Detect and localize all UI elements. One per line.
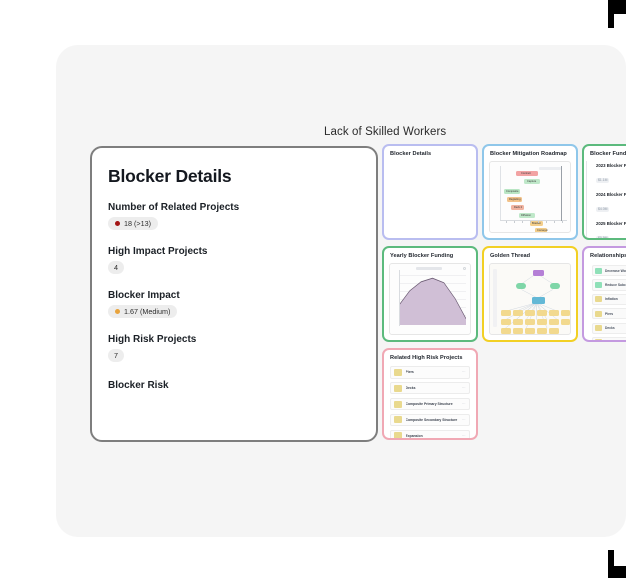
field-label: High Risk Projects (108, 334, 360, 345)
diagram-leaf (561, 310, 570, 316)
area-series (399, 271, 466, 325)
thumbnail-blocker-details[interactable]: Blocker Details (382, 144, 478, 240)
relationships-list: Decrease Worker Turnover Reduce Subcontr… (589, 263, 626, 335)
color-swatch (595, 339, 602, 342)
funding-label: 2024 Blocker Funding (596, 192, 626, 197)
thumbnail-title: Relationships (584, 248, 626, 262)
thumbnail-title: Blocker Mitigation Roadmap (484, 146, 576, 160)
color-swatch (394, 401, 402, 408)
project-name: Composite Primary Structure (406, 402, 459, 406)
color-swatch (394, 416, 402, 423)
list-item: Decrease Worker Turnover (592, 265, 626, 276)
badge-value: 7 (114, 351, 118, 360)
color-swatch (595, 282, 602, 288)
thumbnail-golden-thread[interactable]: Golden Thread (482, 246, 578, 342)
funding-label: 2023 Blocker Funding (596, 163, 626, 168)
relationship-label: Decrease Worker Turnover (605, 269, 626, 273)
field-label: Number of Related Projects (108, 202, 360, 213)
field-high-risk-projects: High Risk Projects 7 (108, 334, 360, 363)
thumbnail-title: Yearly Blocker Funding (384, 248, 476, 262)
list-item: Decks (592, 323, 626, 334)
thumbnail-relationships[interactable]: Relationships Decrease Worker Turnover R… (582, 246, 626, 342)
field-blocker-risk: Blocker Risk (108, 380, 360, 391)
diagram-node-branch-b (550, 283, 560, 289)
relationship-label: Decks (605, 326, 615, 330)
thumbnail-blocker-mitigation-roadmap[interactable]: Blocker Mitigation Roadmap Contract Capt… (482, 144, 578, 240)
list-item: 2023 Blocker Funding $1.1M (596, 163, 626, 186)
list-item: Piers (592, 308, 626, 319)
diagram-leaf (549, 319, 559, 325)
funding-value: $1.1M (596, 178, 609, 183)
row-menu-icon[interactable]: ⋯ (462, 402, 466, 406)
color-swatch (595, 268, 602, 274)
row-menu-icon[interactable]: ⋯ (462, 386, 466, 390)
diagram-leaf (537, 310, 547, 316)
badge-value: 4 (114, 263, 118, 272)
relationship-label: Piers (605, 312, 613, 316)
status-badge: 1.67 (Medium) (108, 305, 177, 318)
relationship-label: Reduce Subcontractor Reliance (605, 283, 626, 287)
field-high-impact-projects: High Impact Projects 4 (108, 246, 360, 275)
thumbnail-title: Related High Risk Projects (384, 350, 476, 364)
diagram-leaf (549, 328, 559, 334)
color-swatch (595, 296, 602, 302)
funding-value: $4.0M (596, 207, 609, 212)
list-rule (586, 161, 587, 240)
thumbnail-blocker-funding[interactable]: Blocker Funding 2023 Blocker Funding $1.… (582, 144, 626, 240)
thumbnail-diagram-area (489, 263, 571, 335)
thumbnail-related-high-risk-projects[interactable]: Related High Risk Projects Piers ⋯ Decks… (382, 348, 478, 440)
color-swatch (394, 432, 402, 439)
thumbnail-title: Golden Thread (484, 248, 576, 262)
status-dot-amber (115, 309, 120, 314)
diagram-node-branch-a (516, 283, 526, 289)
status-dot-red (115, 221, 120, 226)
diagram-leaf (513, 310, 523, 316)
table-row[interactable]: Expansion ⋯ (390, 430, 470, 440)
crop-mark-bottom-right-v (608, 550, 614, 578)
diagram-leaf (501, 328, 511, 334)
project-name: Composite Secondary Structure (406, 418, 459, 422)
table-row[interactable]: Decks ⋯ (390, 382, 470, 395)
thumbnail-chart-area (389, 263, 471, 335)
diagram-leaf (561, 319, 570, 325)
thumbnail-title: Blocker Details (384, 146, 476, 160)
row-menu-icon[interactable]: ⋯ (462, 434, 466, 438)
table-row[interactable]: Composite Secondary Structure ⋯ (390, 414, 470, 427)
list-item: 2024 Blocker Funding $4.0M (596, 192, 626, 215)
color-swatch (595, 311, 602, 317)
gantt-chart: Contract Capture Composite Reglazing Dec… (489, 161, 571, 233)
diagram-leaf (537, 328, 547, 334)
area-chart (389, 263, 471, 335)
diagram-leaf (501, 319, 511, 325)
golden-thread-diagram (489, 263, 571, 335)
thumbnail-title: Blocker Funding (584, 146, 626, 160)
funding-value: $0.9M (596, 236, 609, 241)
color-swatch (394, 369, 402, 376)
list-item: Reduce Subcontractor Reliance (592, 279, 626, 290)
table-row[interactable]: Composite Primary Structure ⋯ (390, 398, 470, 411)
funding-label: 2025 Blocker Funding (596, 221, 626, 226)
diagram-node-hub (532, 297, 545, 304)
diagram-leaf (525, 328, 535, 334)
crop-mark-top-right-v (608, 0, 614, 28)
field-label: Blocker Impact (108, 290, 360, 301)
screenshot-root: Lack of Skilled Workers Blocker Details … (0, 0, 626, 588)
value-badge: 4 (108, 261, 124, 274)
relationship-label: Cofferdam (605, 340, 622, 342)
diagram-leaf (537, 319, 547, 325)
project-name: Decks (406, 386, 459, 390)
table-row[interactable]: Piers ⋯ (390, 366, 470, 379)
blocker-details-card[interactable]: Blocker Details Number of Related Projec… (90, 146, 378, 442)
value-badge: 7 (108, 349, 124, 362)
plot-area (399, 271, 466, 325)
field-number-of-related-projects: Number of Related Projects 18 (>13) (108, 202, 360, 231)
field-label: High Impact Projects (108, 246, 360, 257)
list-item: Cofferdam (592, 337, 626, 342)
project-name: Piers (406, 370, 459, 374)
field-label: Blocker Risk (108, 380, 360, 391)
funding-list: 2023 Blocker Funding $1.1M 2024 Blocker … (589, 161, 626, 233)
project-name: Expansion (406, 434, 459, 438)
thumbnail-chart-area: Contract Capture Composite Reglazing Dec… (489, 161, 571, 233)
diagram-leaf (525, 310, 535, 316)
row-menu-icon[interactable]: ⋯ (462, 418, 466, 422)
badge-value: 18 (>13) (124, 219, 151, 228)
thumbnail-yearly-blocker-funding[interactable]: Yearly Blocker Funding (382, 246, 478, 342)
diagram-leaf (513, 328, 523, 334)
diagram-node-root (533, 270, 544, 276)
risk-project-list: Piers ⋯ Decks ⋯ Composite Primary Struct… (389, 365, 471, 433)
diagram-leaf (549, 310, 559, 316)
status-badge: 18 (>13) (108, 217, 158, 230)
diagram-leaf (513, 319, 523, 325)
relationship-label: Inflation (605, 297, 618, 301)
diagram-leaf (501, 310, 511, 316)
board-title: Lack of Skilled Workers (324, 126, 446, 138)
diagram-leaf (525, 319, 535, 325)
color-swatch (595, 325, 602, 331)
page-title: Blocker Details (108, 166, 360, 187)
color-swatch (394, 385, 402, 392)
field-blocker-impact: Blocker Impact 1.67 (Medium) (108, 290, 360, 319)
list-item: Inflation (592, 294, 626, 305)
row-menu-icon[interactable]: ⋯ (462, 370, 466, 374)
list-item: 2025 Blocker Funding $0.9M (596, 221, 626, 240)
badge-value: 1.67 (Medium) (124, 307, 170, 316)
